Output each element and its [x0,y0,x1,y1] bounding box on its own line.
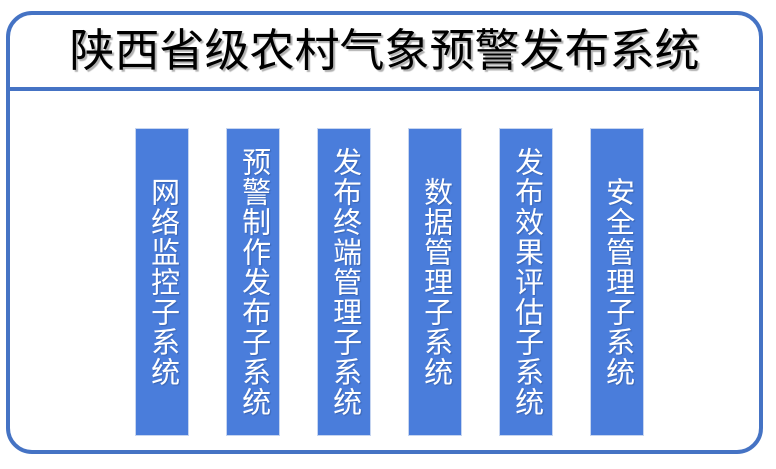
subsystem-bar-network-monitoring[interactable]: 网络监控子系统 [135,128,189,436]
subsystem-bar-release-terminal-management[interactable]: 发布终端管理子系统 [317,128,371,436]
subsystem-bar-security-management[interactable]: 安全管理子系统 [590,128,644,436]
subsystem-bar-release-effect-evaluation[interactable]: 发布效果评估子系统 [499,128,553,436]
subsystem-bar-data-management[interactable]: 数据管理子系统 [408,128,462,436]
diagram-canvas: 陕西省级农村气象预警发布系统 网络监控子系统 预警制作发布子系统 发布终端管理子… [0,0,776,469]
subsystem-label: 网络监控子系统 [146,177,177,387]
subsystem-label: 预警制作发布子系统 [237,147,268,417]
subsystem-bar-warning-production-release[interactable]: 预警制作发布子系统 [226,128,280,436]
subsystem-label: 发布效果评估子系统 [510,147,541,417]
subsystem-label: 数据管理子系统 [419,177,450,387]
subsystem-label: 发布终端管理子系统 [328,147,359,417]
subsystem-row: 网络监控子系统 预警制作发布子系统 发布终端管理子系统 数据管理子系统 发布效果… [6,91,763,454]
subsystem-label: 安全管理子系统 [601,177,632,387]
